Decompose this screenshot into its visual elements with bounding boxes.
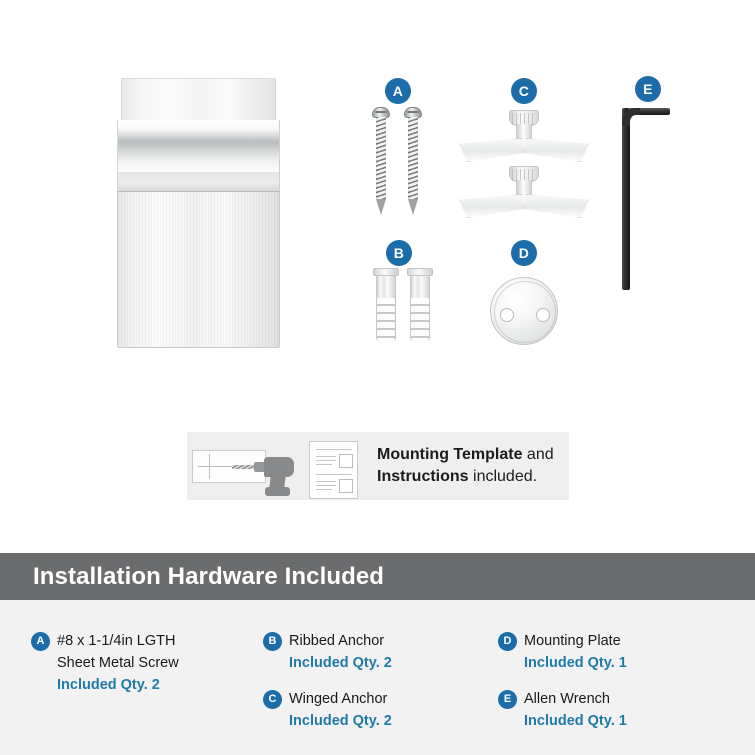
wrench-long-arm [622, 108, 630, 290]
screw-shank [408, 117, 418, 199]
doc-line [316, 456, 336, 457]
mounting-plate-icon [490, 277, 558, 345]
product-groove [117, 120, 280, 172]
product-body [117, 192, 280, 348]
winged-anchor-icon [459, 110, 591, 222]
part-badge-c: C [511, 78, 537, 104]
hardware-header-bar: Installation Hardware Included [0, 553, 755, 600]
anchor-collar [376, 276, 396, 298]
template-caption-included: included. [469, 468, 538, 485]
template-caption-bold-2: Instructions [377, 468, 469, 485]
anchor-flange [407, 268, 433, 276]
legend-name-c: Winged Anchor [289, 688, 392, 710]
template-caption-line-1: Mounting Template and [377, 444, 567, 466]
legend-qty-d: Included Qty. 1 [524, 652, 627, 674]
template-caption: Mounting Template and Instructions inclu… [377, 444, 567, 488]
instructions-document-icon [309, 441, 358, 499]
template-caption-bold-1: Mounting Template [377, 446, 522, 463]
doc-line [316, 485, 336, 486]
drill-template-icon [192, 446, 300, 493]
legend-name-d: Mounting Plate [524, 630, 627, 652]
legend-text-c: Winged Anchor Included Qty. 2 [289, 688, 392, 732]
allen-wrench-icon [614, 92, 670, 292]
drill-bit [232, 465, 256, 469]
mounting-plate-hole-left [500, 308, 514, 322]
legend-badge-e: E [498, 690, 517, 709]
legend-text-a: #8 x 1-1/4in LGTH Sheet Metal Screw Incl… [57, 630, 179, 696]
anchor-wing-left [459, 138, 525, 162]
legend-qty-e: Included Qty. 1 [524, 710, 627, 732]
doc-line [316, 464, 332, 465]
doc-line [316, 474, 352, 475]
illustration-area: A B C [0, 0, 755, 553]
template-caption-and: and [522, 446, 553, 463]
product-top-panel [121, 78, 276, 120]
anchor-body [410, 298, 430, 341]
anchor-wing-right [523, 138, 589, 162]
doc-thumb [339, 454, 353, 468]
mounting-template-band: Mounting Template and Instructions inclu… [187, 432, 569, 500]
doc-line [316, 460, 336, 461]
legend-name-e: Allen Wrench [524, 688, 627, 710]
screw-shank [376, 117, 386, 199]
anchor-collar [410, 276, 430, 298]
legend-qty-c: Included Qty. 2 [289, 710, 392, 732]
legend-name-a-line-1: #8 x 1-1/4in LGTH [57, 630, 179, 652]
anchor-flange [373, 268, 399, 276]
mounting-plate-hole-right [536, 308, 550, 322]
screw-2 [404, 107, 422, 215]
part-badge-d: D [511, 240, 537, 266]
legend-badge-a: A [31, 632, 50, 651]
part-badge-b: B [386, 240, 412, 266]
legend-badge-d: D [498, 632, 517, 651]
legend-qty-b: Included Qty. 2 [289, 652, 392, 674]
doc-line [316, 481, 336, 482]
anchor-wing-left [459, 194, 525, 218]
anchor-wing-right [523, 194, 589, 218]
legend-name-a-line-2: Sheet Metal Screw [57, 652, 179, 674]
screw-tip [376, 199, 386, 215]
product-shelf [117, 172, 280, 192]
ribbed-anchor-1 [373, 268, 399, 341]
legend-panel: A #8 x 1-1/4in LGTH Sheet Metal Screw In… [0, 600, 755, 755]
screw-slot [407, 111, 419, 113]
legend-text-b: Ribbed Anchor Included Qty. 2 [289, 630, 392, 674]
part-badge-a: A [385, 78, 411, 104]
legend-text-e: Allen Wrench Included Qty. 1 [524, 688, 627, 732]
template-caption-line-2: Instructions included. [377, 466, 567, 488]
ribbed-anchor-icon [373, 268, 437, 344]
ribbed-anchor-2 [407, 268, 433, 341]
legend-badge-b: B [263, 632, 282, 651]
winged-anchor-2 [459, 166, 589, 220]
screw-tip [408, 199, 418, 215]
legend-name-b: Ribbed Anchor [289, 630, 392, 652]
screw-1 [372, 107, 390, 215]
anchor-body [376, 298, 396, 341]
winged-anchor-1 [459, 110, 589, 164]
product-image [117, 78, 280, 348]
page-title: Installation Hardware Included [33, 563, 384, 591]
doc-line [316, 489, 332, 490]
legend-text-d: Mounting Plate Included Qty. 1 [524, 630, 627, 674]
drill-battery [265, 487, 290, 496]
doc-line [316, 449, 352, 450]
doc-thumb [339, 479, 353, 493]
sheet-metal-screw-icon [372, 107, 438, 219]
legend-qty-a: Included Qty. 2 [57, 674, 179, 696]
screw-slot [375, 111, 387, 113]
legend-badge-c: C [263, 690, 282, 709]
